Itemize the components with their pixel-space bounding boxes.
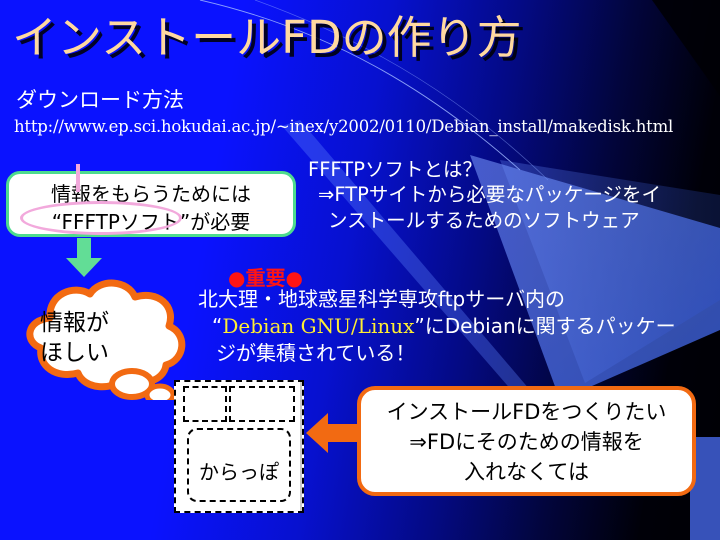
green-callout-line-1: 情報をもらうためには <box>9 178 293 207</box>
page-title: インストールFDの作り方 <box>12 14 522 61</box>
important-note-line-2-tail: ”にDebianに関するパッケー <box>414 314 675 338</box>
floppy-disk-icon: からっぽ <box>174 380 304 513</box>
thought-cloud-line-1: 情報が <box>40 308 109 338</box>
orange-callout-box: インストールFDをつくりたい ⇒FDにそのための情報を 入れなくては <box>357 386 696 496</box>
debian-highlight: Debian GNU/Linux <box>222 314 414 338</box>
floppy-shutter-left <box>183 386 227 422</box>
important-note-line-1: 北大理・地球惑星科学専攻ftpサーバ内の <box>198 286 718 313</box>
orange-left-arrow-icon <box>306 412 362 454</box>
fffftp-note-line-2: ⇒FTPサイトから必要なパッケージをイ <box>304 182 714 207</box>
important-note-line-2: “Debian GNU/Linux”にDebianに関するパッケー <box>198 313 718 340</box>
subtitle: ダウンロード方法 <box>16 84 184 114</box>
quote-open: “ <box>212 314 222 338</box>
important-note: 北大理・地球惑星科学専攻ftpサーバ内の “Debian GNU/Linux”に… <box>198 286 718 366</box>
floppy-label-text: からっぽ <box>174 456 304 485</box>
thought-cloud-text: 情報が ほしい <box>40 308 109 369</box>
fffftp-note-line-1: FFFTPソフトとは？ <box>304 157 714 182</box>
fffftp-note-line-3: ンストールするためのソフトウェア <box>304 208 714 233</box>
fffftp-note: FFFTPソフトとは？ ⇒FTPサイトから必要なパッケージをイ ンストールするた… <box>304 157 714 233</box>
important-note-line-3: ジが集積されている！ <box>198 340 718 367</box>
green-callout-line-2: “FFFTPソフト”が必要 <box>9 206 293 235</box>
slide-canvas: インストールFDの作り方 ダウンロード方法 http://www.ep.sci.… <box>0 0 720 540</box>
thought-cloud-line-2: ほしい <box>40 338 109 368</box>
source-url[interactable]: http://www.ep.sci.hokudai.ac.jp/~inex/y2… <box>14 117 673 136</box>
orange-callout-line-1: インストールFDをつくりたい <box>361 396 692 426</box>
orange-callout-line-3: 入れなくては <box>361 456 692 486</box>
green-callout-box: 情報をもらうためには “FFFTPソフト”が必要 <box>6 171 296 237</box>
floppy-shutter-right <box>229 386 295 422</box>
orange-callout-line-2: ⇒FDにそのための情報を <box>361 426 692 456</box>
